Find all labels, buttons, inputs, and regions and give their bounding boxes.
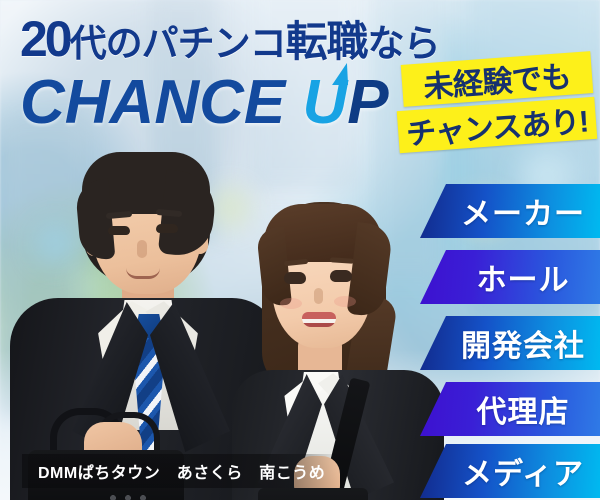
category-label-hall: ホール (451, 255, 570, 299)
category-label-development-company: 開発会社 (435, 321, 585, 365)
category-label-agency: 代理店 (451, 387, 570, 431)
category-button-agency[interactable]: 代理店 (420, 382, 600, 436)
category-button-development-company[interactable]: 開発会社 (420, 316, 600, 370)
category-label-maker: メーカー (435, 189, 585, 233)
category-button-media[interactable]: メディア (420, 444, 600, 498)
banner-ad[interactable]: 20代のパチンコ転職なら CHANCE UP 未経験でも チャンスあり! メーカ… (0, 0, 600, 500)
category-label-media: メディア (436, 449, 584, 493)
category-button-list: メーカー ホール 開発会社 代理店 メディア (0, 0, 600, 500)
credit-strip: DMMぱちタウン あさくら 南こうめ (22, 454, 341, 488)
category-button-maker[interactable]: メーカー (420, 184, 600, 238)
credit-text: DMMぱちタウン あさくら 南こうめ (38, 459, 325, 483)
category-button-hall[interactable]: ホール (420, 250, 600, 304)
